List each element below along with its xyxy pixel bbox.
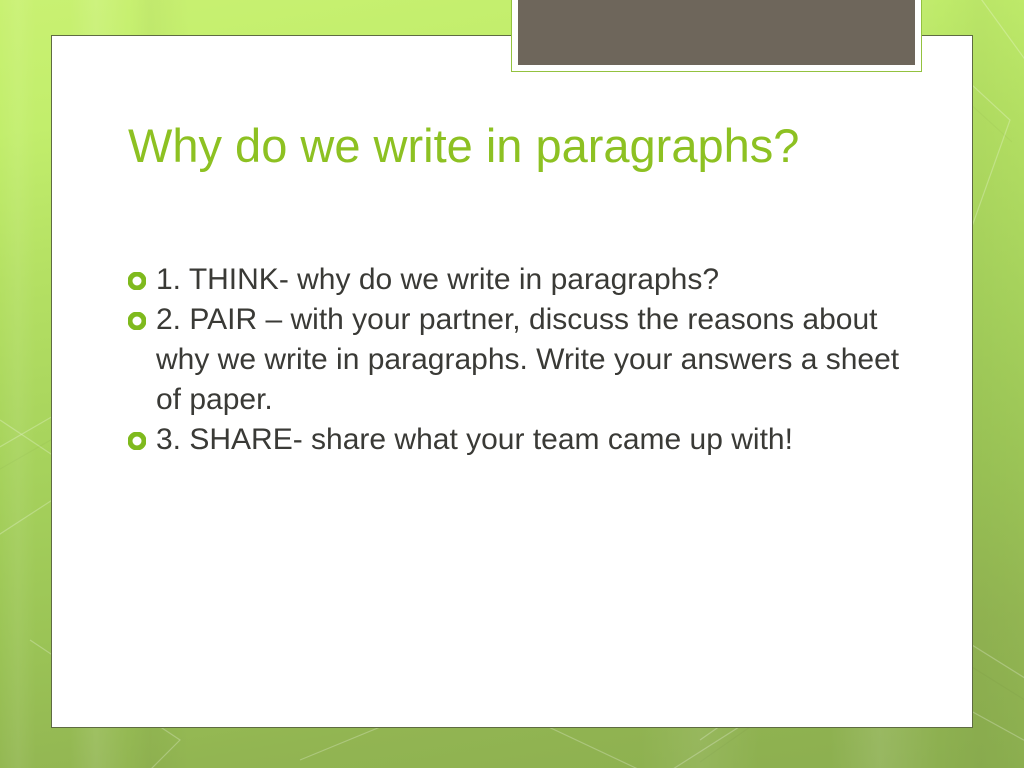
slide-content: Why do we write in paragraphs? 1. THINK-… [51, 35, 973, 728]
list-item: 3. SHARE- share what your team came up w… [128, 420, 918, 460]
list-item-text: 1. THINK- why do we write in paragraphs? [156, 260, 918, 300]
slide-title: Why do we write in paragraphs? [128, 116, 828, 176]
header-decoration-box [511, 0, 922, 72]
list-item: 2. PAIR – with your partner, discuss the… [128, 300, 918, 420]
presentation-slide: Why do we write in paragraphs? 1. THINK-… [0, 0, 1024, 768]
slide-bullet-list: 1. THINK- why do we write in paragraphs?… [128, 260, 918, 460]
list-item-text: 2. PAIR – with your partner, discuss the… [156, 300, 918, 420]
ring-bullet-icon [128, 420, 152, 450]
ring-bullet-icon [128, 300, 152, 330]
list-item: 1. THINK- why do we write in paragraphs? [128, 260, 918, 300]
list-item-text: 3. SHARE- share what your team came up w… [156, 420, 918, 460]
header-decoration-fill [518, 0, 915, 65]
ring-bullet-icon [128, 260, 152, 290]
